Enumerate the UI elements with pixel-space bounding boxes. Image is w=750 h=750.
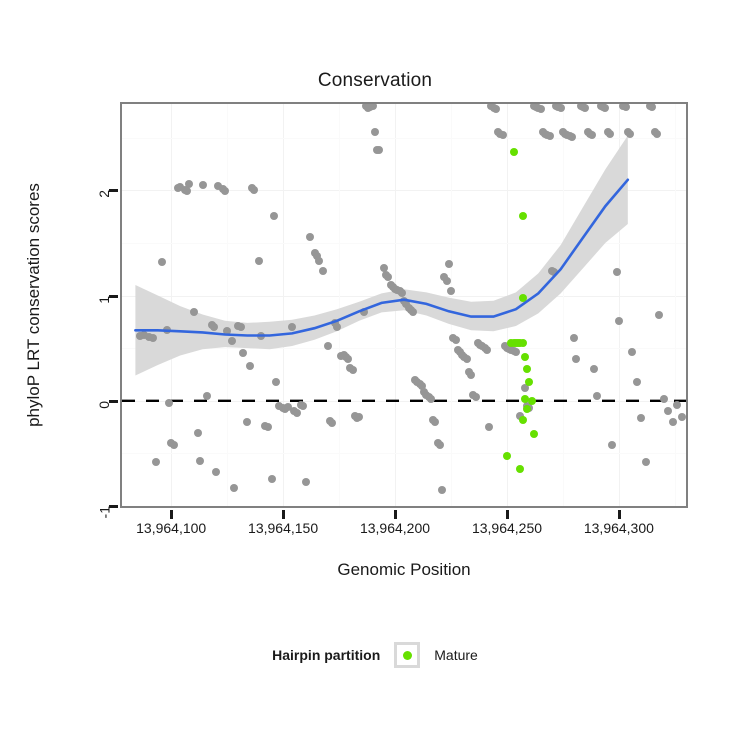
y-tick-label: 1	[96, 296, 112, 304]
chart-root: Conservation -1012 13,964,10013,964,1501…	[0, 0, 750, 750]
x-tick-label: 13,964,150	[248, 520, 318, 536]
page-title: Conservation	[0, 70, 750, 92]
x-tick-label: 13,964,250	[472, 520, 542, 536]
loess-path	[135, 180, 627, 336]
legend-title: Hairpin partition	[272, 647, 380, 663]
y-tick-label: 2	[96, 190, 112, 198]
y-tick-label: -1	[96, 506, 112, 518]
x-axis-title: Genomic Position	[337, 560, 470, 580]
x-tick-mark	[506, 510, 509, 519]
legend-key-mature[interactable]	[394, 642, 420, 668]
x-tick-mark	[170, 510, 173, 519]
x-tick-mark	[394, 510, 397, 519]
y-axis-title: phyloP LRT conservation scores	[24, 183, 44, 427]
x-tick-mark	[618, 510, 621, 519]
legend-label-mature: Mature	[434, 647, 478, 663]
x-tick-label: 13,964,200	[360, 520, 430, 536]
legend: Hairpin partition Mature	[0, 642, 750, 668]
y-tick-label: 0	[96, 401, 112, 409]
plot-panel	[120, 102, 688, 508]
x-tick-mark	[282, 510, 285, 519]
legend-dot-icon	[403, 651, 412, 660]
plot-area	[122, 104, 686, 506]
x-tick-label: 13,964,100	[136, 520, 206, 536]
loess-trend-line	[122, 104, 686, 506]
x-tick-label: 13,964,300	[584, 520, 654, 536]
